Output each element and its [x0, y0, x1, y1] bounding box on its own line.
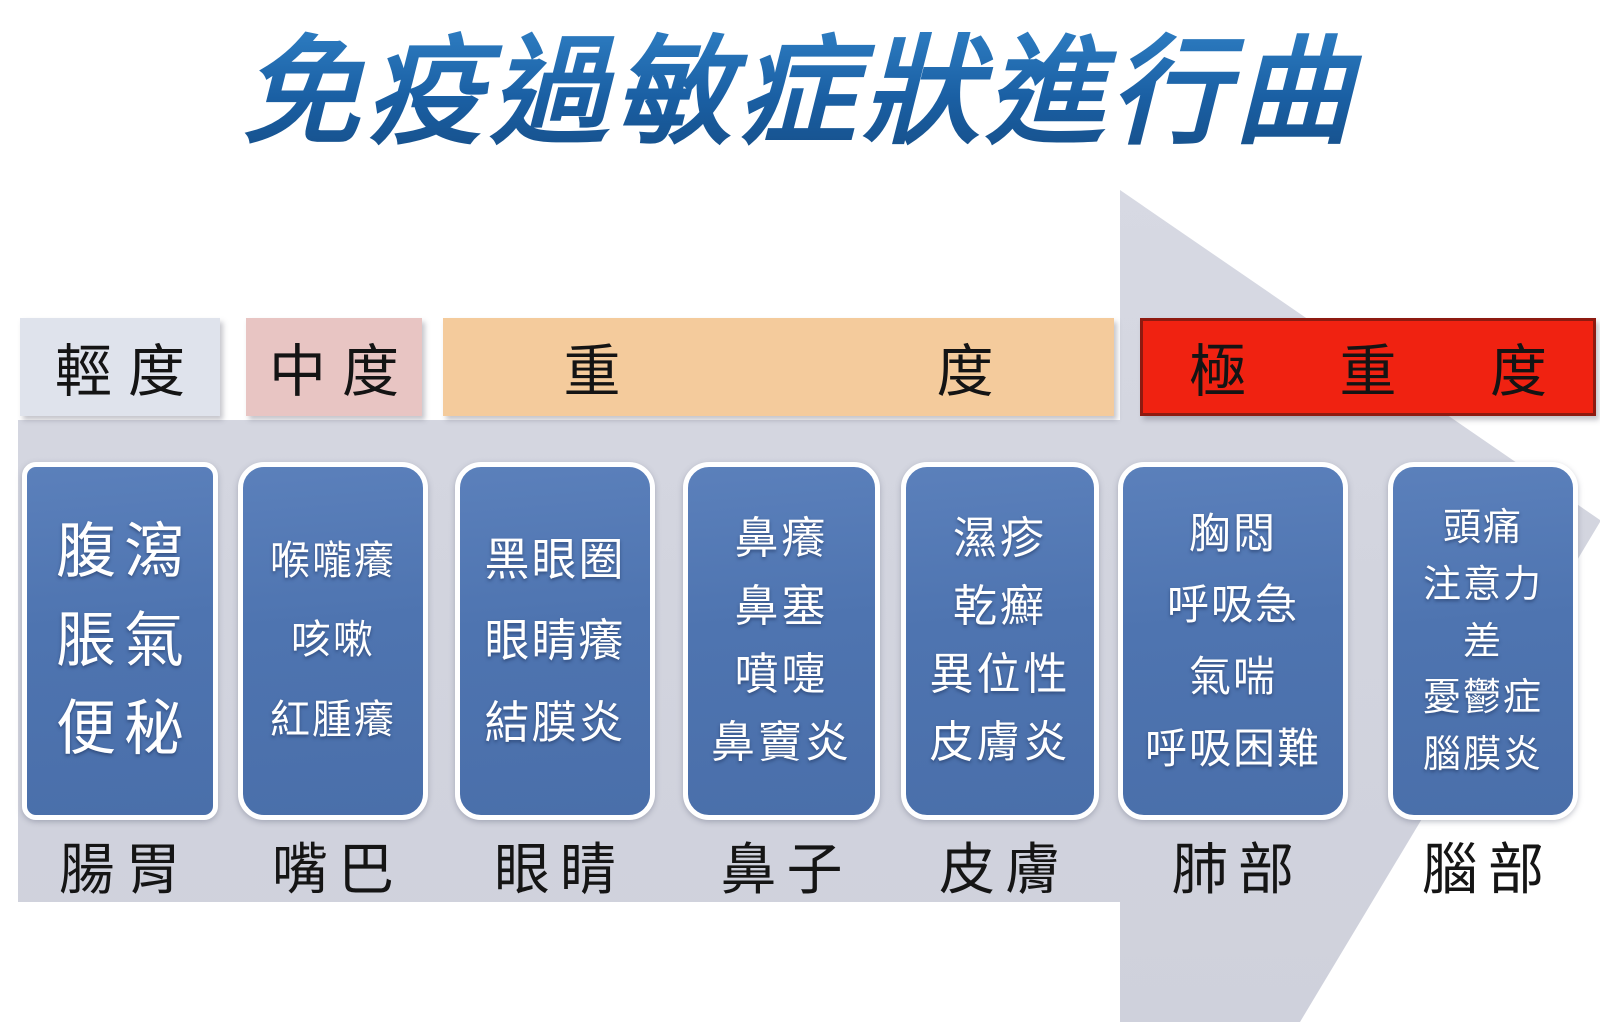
symptom-item: 差	[1463, 619, 1503, 664]
symptom-item: 便秘	[48, 694, 192, 765]
symptom-item: 呼吸急	[1167, 580, 1299, 630]
organ-label-intestine: 腸胃	[22, 828, 218, 902]
symptom-item: 腦膜炎	[1423, 732, 1543, 777]
symptom-item: 呼吸困難	[1145, 724, 1321, 774]
organ-label-nose: 鼻子	[683, 828, 880, 902]
severity-label-moderate: 中度	[253, 326, 415, 408]
symptom-box-brain[interactable]: 頭痛 注意力 差 憂鬱症 腦膜炎	[1388, 462, 1578, 820]
severity-label-extreme-char-3: 度	[1490, 326, 1547, 408]
symptom-item: 鼻塞	[735, 581, 829, 633]
severity-bar-moderate: 中度	[246, 318, 422, 416]
symptom-item: 紅腫癢	[270, 697, 396, 744]
symptom-item: 鼻竇炎	[711, 717, 852, 769]
severity-label-severe-char-2: 度	[937, 326, 994, 408]
organ-label-lungs: 肺部	[1118, 828, 1348, 902]
symptom-item: 黑眼圈	[484, 533, 625, 586]
symptom-box-skin[interactable]: 濕疹 乾癬 異位性 皮膚炎	[901, 462, 1099, 820]
severity-bar-severe: 重 度	[443, 318, 1114, 416]
symptom-item: 眼睛癢	[484, 614, 625, 667]
symptom-item: 異位性	[930, 649, 1071, 701]
symptom-item: 脹氣	[48, 606, 192, 677]
symptom-item: 結膜炎	[484, 696, 625, 749]
symptom-item: 鼻癢	[735, 513, 829, 565]
page-title: 免疫過敏症狀進行曲	[0, 22, 1600, 161]
symptom-item: 腹瀉	[48, 517, 192, 588]
severity-label-severe-char-1: 重	[564, 326, 621, 408]
symptom-item: 憂鬱症	[1423, 675, 1543, 720]
symptom-item: 皮膚炎	[930, 717, 1071, 769]
severity-bar-extreme: 極 重 度	[1140, 318, 1596, 416]
organ-label-skin: 皮膚	[901, 828, 1099, 902]
organ-label-brain: 腦部	[1388, 828, 1578, 902]
symptom-item: 胸悶	[1189, 509, 1277, 559]
symptom-item: 頭痛	[1443, 505, 1523, 550]
symptom-box-lungs[interactable]: 胸悶 呼吸急 氣喘 呼吸困難	[1118, 462, 1348, 820]
severity-label-extreme-char-2: 重	[1340, 326, 1397, 408]
symptom-item: 咳嗽	[291, 617, 375, 664]
symptom-item: 噴嚏	[735, 649, 829, 701]
symptom-box-nose[interactable]: 鼻癢 鼻塞 噴嚏 鼻竇炎	[683, 462, 880, 820]
severity-label-extreme-char-1: 極	[1189, 326, 1246, 408]
symptom-item: 氣喘	[1189, 652, 1277, 702]
severity-bar-mild: 輕度	[20, 318, 220, 416]
organ-label-eyes: 眼睛	[455, 828, 655, 902]
symptom-item: 濕疹	[953, 513, 1047, 565]
symptom-box-mouth[interactable]: 喉嚨癢 咳嗽 紅腫癢	[238, 462, 428, 820]
severity-label-mild: 輕度	[39, 326, 201, 408]
symptom-box-eyes[interactable]: 黑眼圈 眼睛癢 結膜炎	[455, 462, 655, 820]
organ-label-mouth: 嘴巴	[238, 828, 428, 902]
symptom-item: 乾癬	[953, 581, 1047, 633]
symptom-item: 注意力	[1423, 562, 1543, 607]
symptom-item: 喉嚨癢	[270, 538, 396, 585]
symptom-box-intestine[interactable]: 腹瀉 脹氣 便秘	[22, 462, 218, 820]
